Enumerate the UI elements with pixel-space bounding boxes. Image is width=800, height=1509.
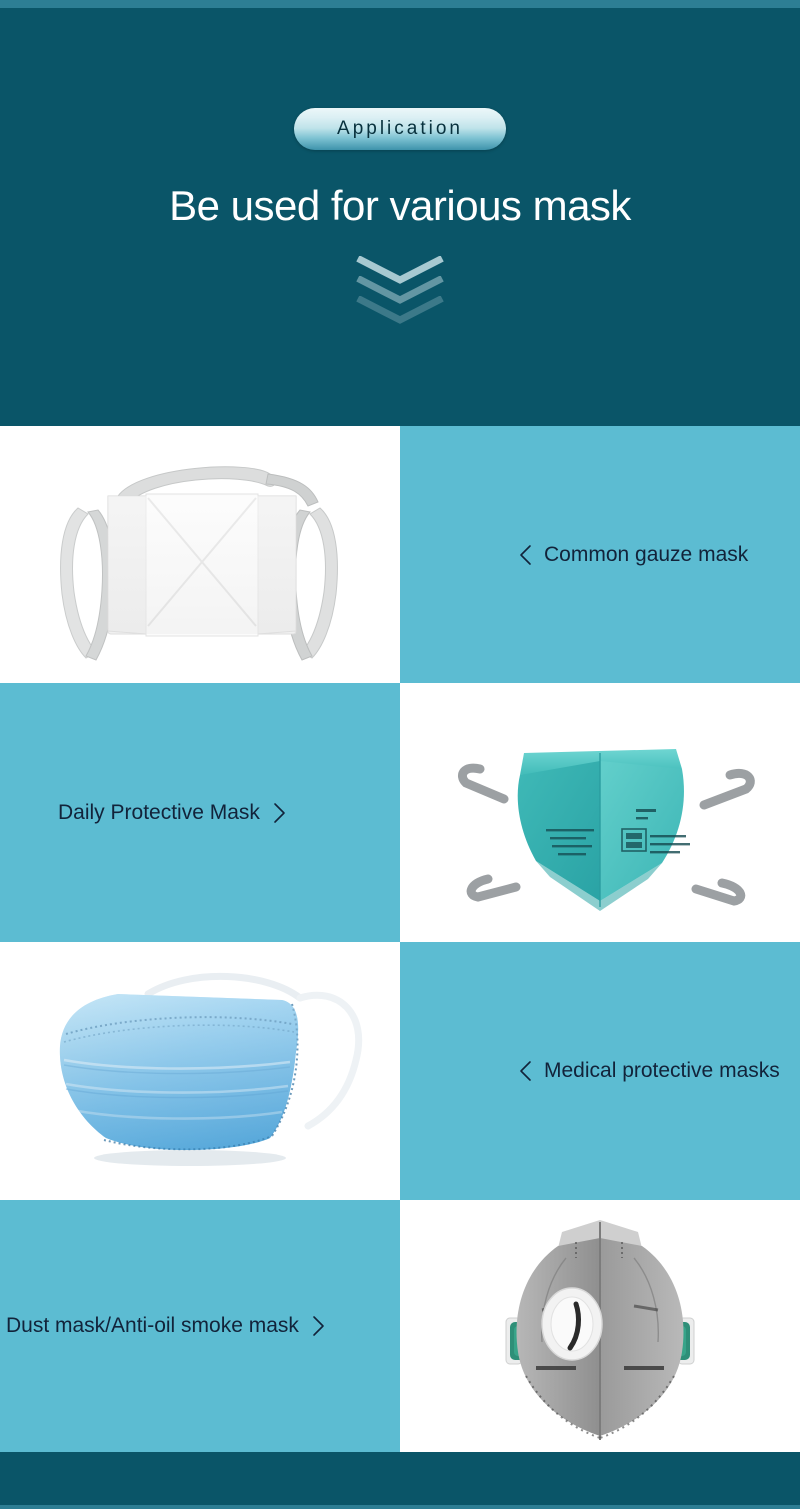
dust-mask-label-row[interactable]: Dust mask/Anti-oil smoke mask: [6, 1314, 325, 1338]
hero-banner: Application Be used for various mask: [0, 8, 800, 426]
medical-protective-masks-label-row[interactable]: Medical protective masks: [518, 1059, 780, 1083]
chevron-left-icon[interactable]: [518, 1060, 532, 1082]
application-page: Application Be used for various mask: [0, 0, 800, 1509]
carbon-dust-mask-photo: [400, 1200, 800, 1452]
daily-protective-mask-label-row[interactable]: Daily Protective Mask: [58, 801, 286, 825]
kn95-respirator-image-cell[interactable]: [400, 683, 800, 942]
gauze-mask-image-cell[interactable]: [0, 426, 400, 683]
page-title: Be used for various mask: [169, 182, 631, 230]
surgical-mask-photo: [0, 942, 400, 1200]
footer-accent-strip: [0, 1505, 800, 1509]
mask-application-grid: Common gauze mask Daily Protective Mask: [0, 426, 800, 1452]
carbon-dust-mask-image-cell[interactable]: [400, 1200, 800, 1452]
footer-band: [0, 1452, 800, 1509]
daily-protective-mask-label: Daily Protective Mask: [58, 801, 260, 825]
common-gauze-mask-label-row[interactable]: Common gauze mask: [518, 543, 748, 567]
chevron-down-triple-icon: [355, 256, 445, 336]
medical-protective-masks-label: Medical protective masks: [544, 1059, 780, 1083]
top-accent-strip: [0, 0, 800, 8]
dust-mask-label-cell[interactable]: Dust mask/Anti-oil smoke mask: [0, 1200, 400, 1452]
chevron-right-icon[interactable]: [311, 1315, 325, 1337]
application-badge: Application: [294, 108, 506, 150]
dust-mask-label: Dust mask/Anti-oil smoke mask: [6, 1314, 299, 1338]
chevron-right-icon[interactable]: [272, 802, 286, 824]
daily-protective-mask-label-cell[interactable]: Daily Protective Mask: [0, 683, 400, 942]
kn95-respirator-photo: [400, 683, 800, 942]
gauze-mask-photo: [0, 426, 400, 683]
medical-protective-masks-label-cell[interactable]: Medical protective masks: [400, 942, 800, 1200]
chevron-down-icon-3: [355, 296, 445, 324]
chevron-left-icon[interactable]: [518, 544, 532, 566]
common-gauze-mask-label: Common gauze mask: [544, 543, 748, 567]
common-gauze-mask-label-cell[interactable]: Common gauze mask: [400, 426, 800, 683]
surgical-mask-image-cell[interactable]: [0, 942, 400, 1200]
application-badge-label: Application: [337, 118, 463, 140]
